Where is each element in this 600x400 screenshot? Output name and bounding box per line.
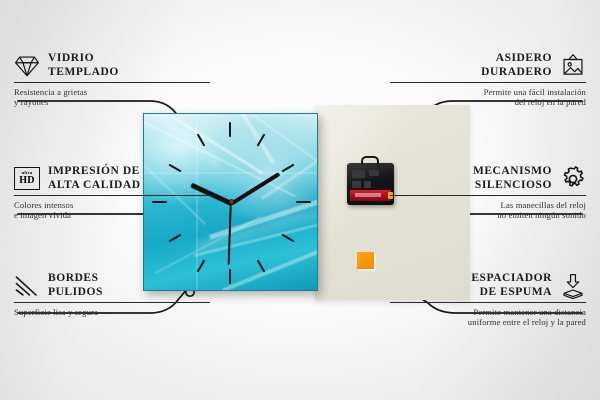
feature-title: IMPRESIÓN DE	[48, 165, 141, 179]
feature-title: TEMPLADO	[48, 66, 119, 80]
divider	[14, 195, 210, 196]
feature-subtitle: Superficie lisa y segura	[14, 307, 210, 317]
feature-title: DURADERO	[481, 66, 552, 80]
feature-title: ESPACIADOR	[471, 272, 552, 286]
foam-spacer-icon	[560, 273, 586, 299]
ultra-hd-large-label: HD	[19, 176, 35, 186]
feature-subtitle: Resistencia a grietas	[14, 87, 210, 97]
divider	[390, 302, 586, 303]
foam-spacer-pad	[357, 252, 374, 269]
feature-subtitle: Las manecillas del reloj	[390, 200, 586, 210]
ultra-hd-icon: ultra HD	[14, 167, 40, 190]
divider	[14, 82, 210, 83]
feature-mecanismo-silencioso: MECANISMO SILENCIOSO Las manecillas del …	[390, 165, 586, 221]
picture-frame-icon	[560, 53, 586, 79]
divider	[390, 195, 586, 196]
feature-title: VIDRIO	[48, 52, 119, 66]
feature-subtitle: y rayones	[14, 97, 210, 107]
feature-subtitle: uniforme entre el reloj y la pared	[390, 317, 586, 327]
divider	[14, 302, 210, 303]
feature-vidrio-templado: VIDRIO TEMPLADO Resistencia a grietas y …	[14, 52, 210, 108]
feature-title: MECANISMO	[473, 165, 552, 179]
feature-subtitle: del reloj en la pared	[390, 97, 586, 107]
feature-subtitle: Colores intensos	[14, 200, 210, 210]
feature-espaciador-de-espuma: ESPACIADOR DE ESPUMA Permite mantener un…	[390, 272, 586, 328]
polished-edges-icon	[14, 273, 40, 299]
feature-title: PULIDOS	[48, 286, 103, 300]
feature-title: ASIDERO	[481, 52, 552, 66]
clock-tick	[229, 122, 231, 137]
feature-title: SILENCIOSO	[473, 179, 552, 193]
feature-subtitle: Permite mantener una distancia	[390, 307, 586, 317]
clock-tick	[229, 269, 231, 284]
clock-tick	[296, 201, 311, 203]
feature-bordes-pulidos: BORDES PULIDOS Superficie lisa y segura	[14, 272, 210, 317]
divider	[390, 82, 586, 83]
infographic-canvas: VIDRIO TEMPLADO Resistencia a grietas y …	[0, 0, 600, 400]
clock-center-pin	[229, 199, 234, 204]
clock-battery	[350, 190, 391, 201]
feature-subtitle: e imagen vívida	[14, 210, 210, 220]
feature-asidero-duradero: ASIDERO DURADERO Permite una fácil insta…	[390, 52, 586, 108]
mechanism-hanger-icon	[361, 156, 379, 165]
gear-icon	[560, 166, 586, 192]
feature-subtitle: Permite una fácil instalación	[390, 87, 586, 97]
diamond-icon	[14, 53, 40, 79]
feature-subtitle: no emiten ningún sonido	[390, 210, 586, 220]
feature-title: ALTA CALIDAD	[48, 179, 141, 193]
feature-title: BORDES	[48, 272, 103, 286]
clock-mechanism	[347, 163, 394, 205]
feature-title: DE ESPUMA	[471, 286, 552, 300]
feature-impresion-alta-calidad: ultra HD IMPRESIÓN DE ALTA CALIDAD Color…	[14, 165, 210, 221]
